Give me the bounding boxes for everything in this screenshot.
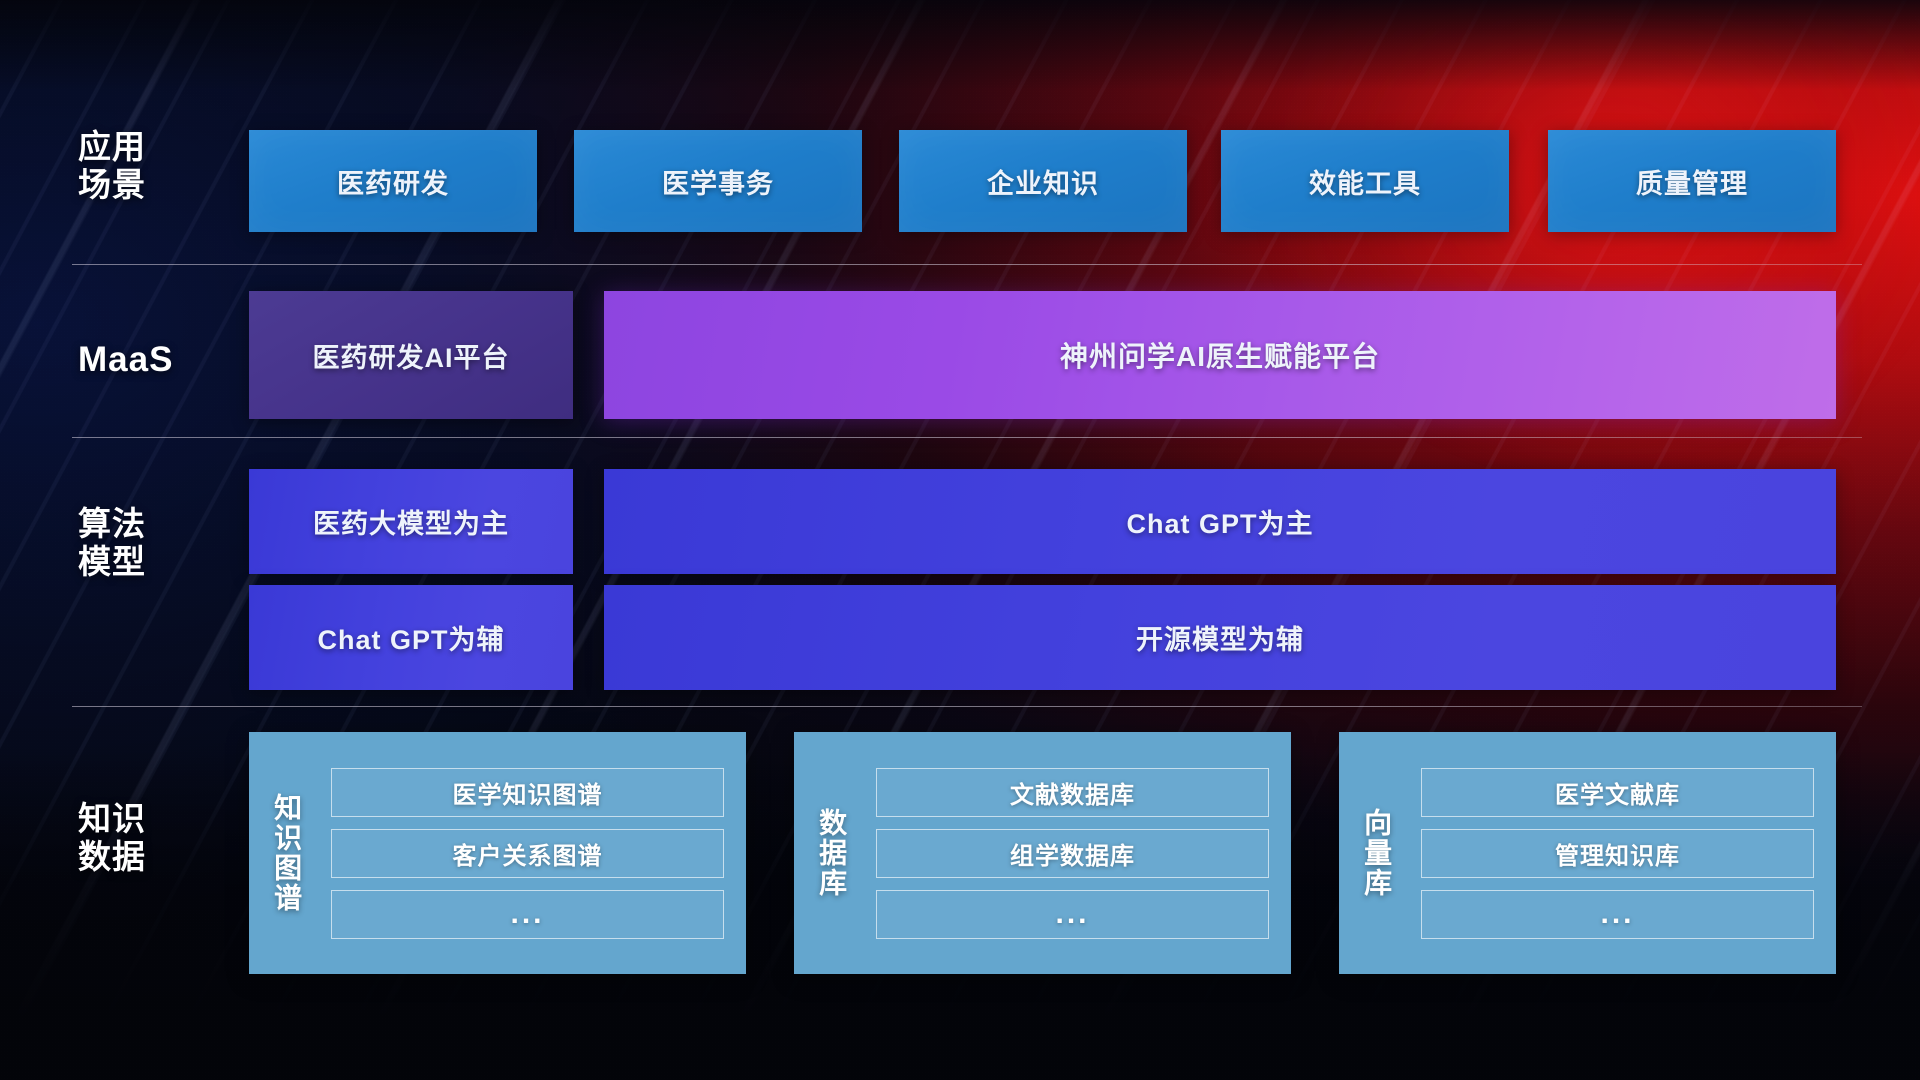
knowledge-group-items: 医学文献库 管理知识库 ... [1413,732,1836,974]
maas-box-drug-rd-ai-platform[interactable]: 医药研发AI平台 [249,291,573,419]
knowledge-group-vector-store[interactable]: 向量库 医学文献库 管理知识库 ... [1339,732,1836,974]
app-box-quality-management[interactable]: 质量管理 [1548,130,1836,232]
knowledge-group-knowledge-graph[interactable]: 知识图谱 医学知识图谱 客户关系图谱 ... [249,732,746,974]
divider-after-applications [72,264,1862,265]
knowledge-item-more[interactable]: ... [331,890,724,939]
knowledge-group-title: 知识图谱 [249,732,323,974]
knowledge-group-items: 医学知识图谱 客户关系图谱 ... [323,732,746,974]
row-label-line-2: 数据 [78,838,213,876]
app-box-enterprise-knowledge[interactable]: 企业知识 [899,130,1187,232]
knowledge-group-items: 文献数据库 组学数据库 ... [868,732,1291,974]
knowledge-item[interactable]: 医学知识图谱 [331,768,724,817]
knowledge-item[interactable]: 医学文献库 [1421,768,1814,817]
slide-canvas: 应用 场景 医药研发 医学事务 企业知识 效能工具 质量管理 MaaS 医药研发… [0,0,1920,1080]
app-box-efficiency-tools[interactable]: 效能工具 [1221,130,1509,232]
knowledge-group-title: 数据库 [794,732,868,974]
architecture-diagram: 应用 场景 医药研发 医学事务 企业知识 效能工具 质量管理 MaaS 医药研发… [0,0,1920,1080]
divider-after-maas [72,437,1862,438]
row-label-knowledge-data: 知识 数据 [78,800,213,877]
algo-box-opensource-secondary[interactable]: 开源模型为辅 [604,585,1836,690]
knowledge-group-title: 向量库 [1339,732,1413,974]
knowledge-item-more[interactable]: ... [876,890,1269,939]
row-label-maas: MaaS [78,340,213,381]
knowledge-item-more[interactable]: ... [1421,890,1814,939]
algo-box-chatgpt-secondary[interactable]: Chat GPT为辅 [249,585,573,690]
row-label-line-1: 知识 [78,800,213,838]
knowledge-item[interactable]: 组学数据库 [876,829,1269,878]
knowledge-item[interactable]: 管理知识库 [1421,829,1814,878]
row-label-line-1: 应用 [78,128,213,166]
row-label-line-1: 算法 [78,505,213,543]
knowledge-item[interactable]: 客户关系图谱 [331,829,724,878]
row-label-line-2: 模型 [78,543,213,581]
app-box-drug-rd[interactable]: 医药研发 [249,130,537,232]
divider-after-algorithms [72,706,1862,707]
row-label-maas-text: MaaS [78,340,213,381]
row-label-algorithm-models: 算法 模型 [78,505,213,582]
row-label-application-scenarios: 应用 场景 [78,128,213,205]
row-label-line-2: 场景 [78,166,213,204]
algo-box-pharma-llm-primary[interactable]: 医药大模型为主 [249,469,573,574]
knowledge-item[interactable]: 文献数据库 [876,768,1269,817]
maas-box-shenzhou-wenxue-platform[interactable]: 神州问学AI原生赋能平台 [604,291,1836,419]
app-box-medical-affairs[interactable]: 医学事务 [574,130,862,232]
algo-box-chatgpt-primary[interactable]: Chat GPT为主 [604,469,1836,574]
knowledge-group-database[interactable]: 数据库 文献数据库 组学数据库 ... [794,732,1291,974]
